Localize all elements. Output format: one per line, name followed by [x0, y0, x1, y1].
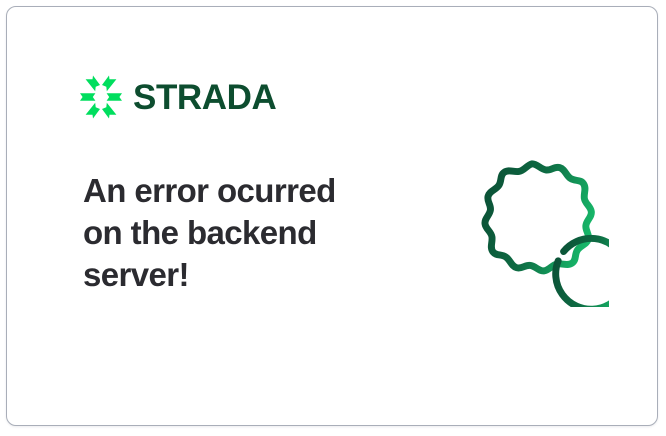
brand-wordmark: STRADA — [133, 80, 276, 115]
error-card: STRADA An error ocurred on the backend s… — [6, 6, 658, 426]
brand-lockup: STRADA — [79, 75, 276, 119]
strada-asterisk-icon — [79, 75, 123, 119]
gear-cog-icon — [455, 153, 609, 307]
error-message: An error ocurred on the backend server! — [83, 170, 383, 296]
